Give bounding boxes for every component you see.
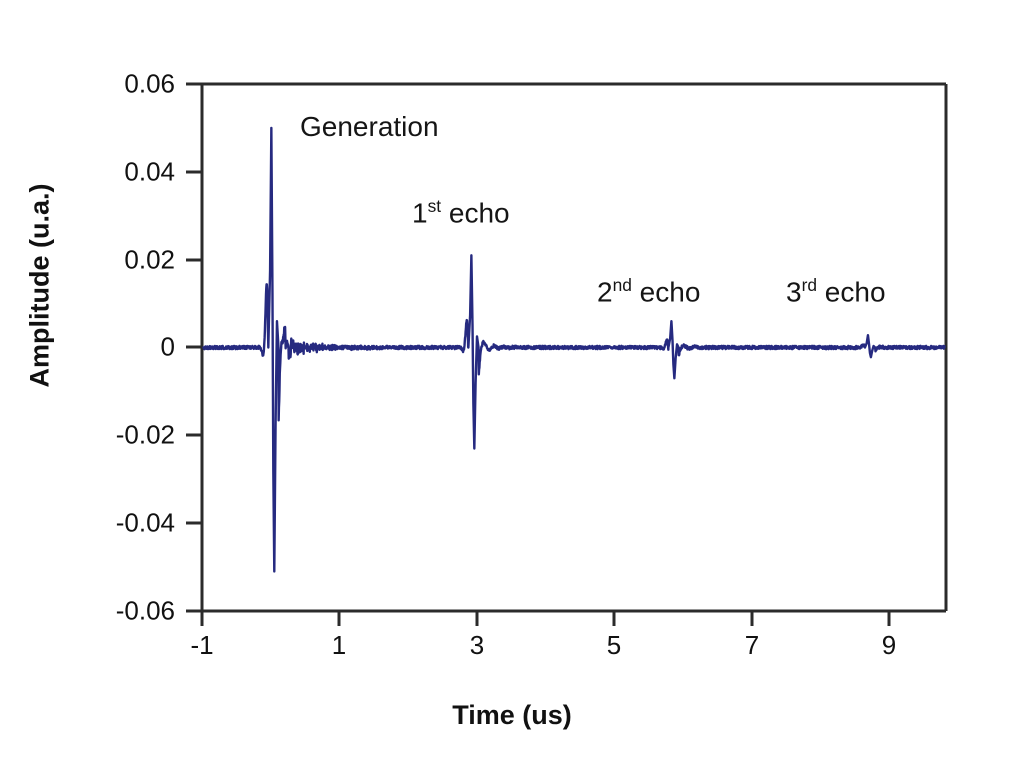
- x-axis-ticks: [202, 611, 889, 626]
- plot-canvas: [0, 0, 1024, 783]
- signal-trace: [203, 128, 944, 572]
- y-axis-ticks: [186, 84, 202, 611]
- chart-figure: Amplitude (u.a.) 0.06 0.04 0.02 0 -0.02 …: [0, 0, 1024, 783]
